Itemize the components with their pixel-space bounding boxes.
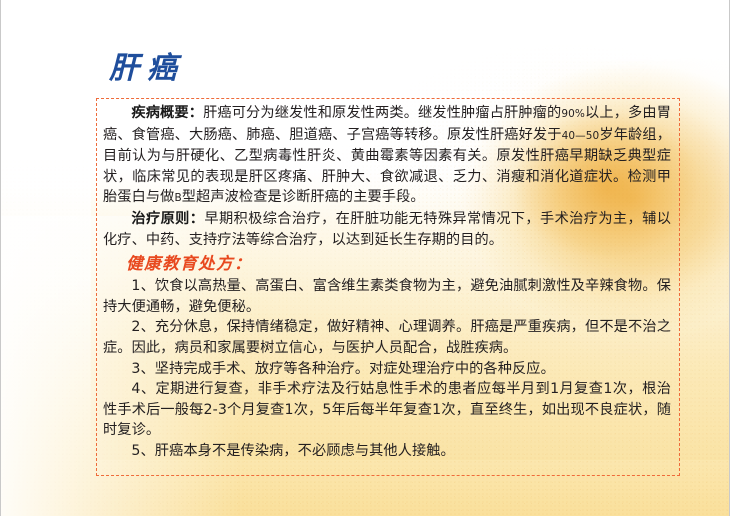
content-dashed-box: 疾病概要：肝癌可分为继发性和原发性两类。继发性肿瘤占肝肿瘤的90%以上，多由胃癌… <box>96 98 680 476</box>
paragraph-overview: 疾病概要：肝癌可分为继发性和原发性两类。继发性肿瘤占肝肿瘤的90%以上，多由胃癌… <box>103 103 671 209</box>
overview-age-range-value: 40—50 <box>562 130 600 142</box>
list-item: 5、肝癌本身不是传染病，不必顾虑与其他人接触。 <box>103 441 671 462</box>
page-title: 肝癌 <box>109 54 185 84</box>
overview-percent-value: 90% <box>561 108 585 120</box>
list-item: 3、坚持完成手术、放疗等各种治疗。对症处理治疗中的各种反应。 <box>103 359 671 380</box>
list-item: 4、定期进行复查，非手术疗法及行姑息性手术的患者应每半月到1月复查1次，根治性手… <box>103 379 671 441</box>
overview-lead-label: 疾病概要： <box>131 105 203 121</box>
overview-ultrasound-type-mark: B <box>174 192 181 204</box>
prescription-heading: 健康教育处方： <box>103 253 671 275</box>
list-item: 1、饮食以高热量、高蛋白、富含维生素类食物为主，避免油腻刺激性及辛辣食物。保持大… <box>103 276 671 317</box>
paragraph-treatment: 治疗原则：早期积极综合治疗，在肝脏功能无特殊异常情况下，手术治疗为主，辅以化疗、… <box>103 209 671 250</box>
list-item: 2、充分休息，保持情绪稳定，做好精神、心理调养。肝癌是严重疾病，但不是不治之症。… <box>103 317 671 358</box>
overview-text-1: 肝癌可分为继发性和原发性两类。继发性肿瘤占肝肿瘤的 <box>203 105 561 121</box>
overview-text-4: 型超声波检查是诊断肝癌的主要手段。 <box>182 189 425 205</box>
treatment-lead-label: 治疗原则： <box>131 211 204 227</box>
page-canvas: 肝癌 疾病概要：肝癌可分为继发性和原发性两类。继发性肿瘤占肝肿瘤的90%以上，多… <box>0 0 730 516</box>
prescription-list: 1、饮食以高热量、高蛋白、富含维生素类食物为主，避免油腻刺激性及辛辣食物。保持大… <box>103 276 671 461</box>
